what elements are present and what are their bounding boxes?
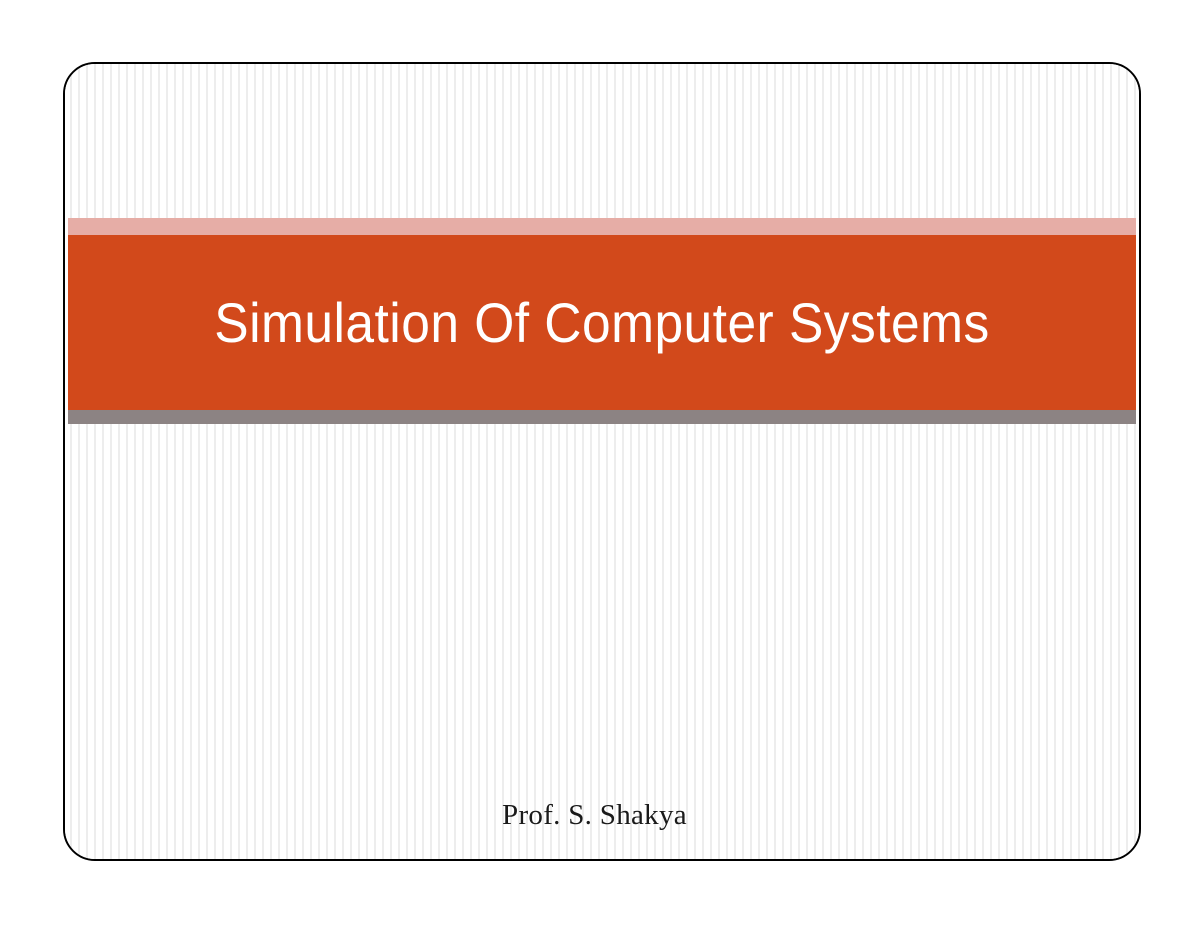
slide-page: Simulation Of Computer Systems Prof. S. … bbox=[0, 0, 1200, 927]
title-banner: Simulation Of Computer Systems bbox=[68, 218, 1136, 424]
slide-title: Simulation Of Computer Systems bbox=[111, 235, 1094, 410]
presentation-slide: Simulation Of Computer Systems Prof. S. … bbox=[63, 62, 1141, 861]
banner-bottom-accent-bar bbox=[68, 410, 1136, 424]
slide-content-area: Prof. S. Shakya bbox=[65, 428, 1139, 859]
slide-subtitle: Prof. S. Shakya bbox=[65, 800, 1124, 832]
banner-body: Simulation Of Computer Systems bbox=[68, 235, 1136, 410]
banner-top-accent-bar bbox=[68, 218, 1136, 235]
